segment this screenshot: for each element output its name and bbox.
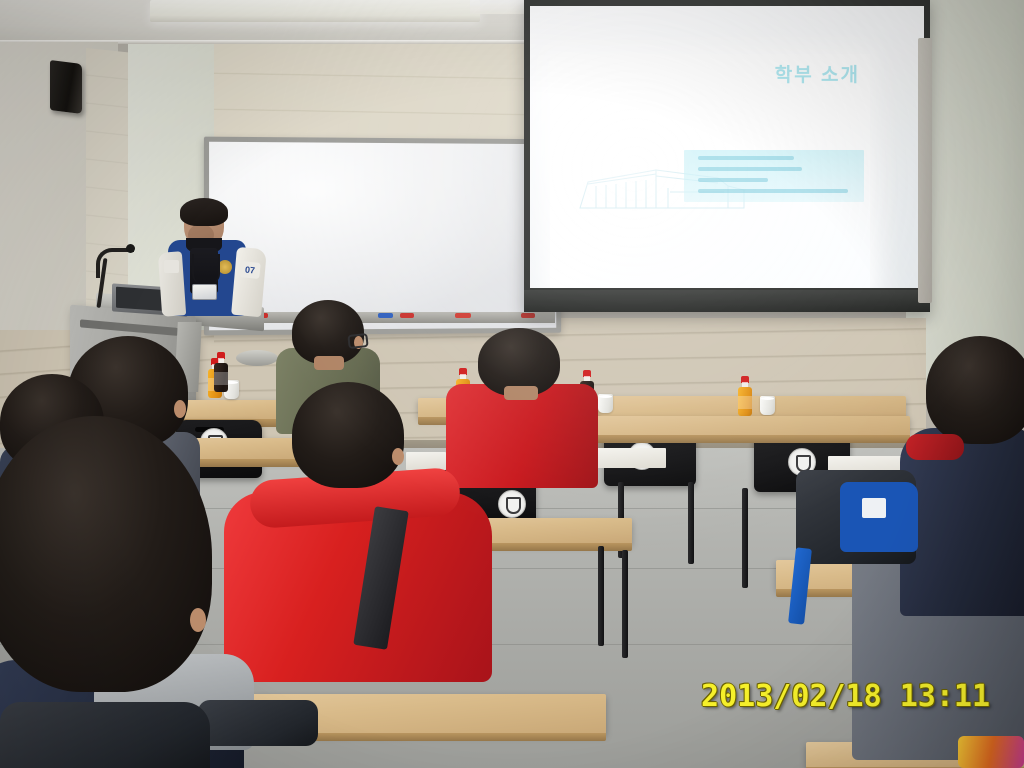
slide-title: 학부 소개 — [775, 60, 860, 87]
student-far-right-navy — [900, 336, 1024, 616]
screen-side-rail — [918, 38, 932, 303]
projection-screen-surface: 학부 소개 — [530, 6, 924, 288]
slide-bullet-3 — [698, 178, 768, 182]
presenter-sleeve-right — [231, 247, 267, 317]
paper-cup-3 — [760, 396, 775, 415]
jacket-draped-front-left — [0, 702, 210, 768]
ceiling-light-fixture — [150, 0, 480, 22]
wall-speaker — [50, 60, 82, 114]
presenter-chest-emblem — [218, 260, 232, 274]
colorful-item-bottom-right — [958, 736, 1024, 768]
presenter: 07 — [160, 198, 270, 316]
bag-dark-front-desk — [198, 700, 318, 746]
marker-red-2 — [400, 313, 414, 318]
student-red-center-ear — [392, 448, 404, 465]
classroom-photo: 학부 소개 — [0, 0, 1024, 768]
marker-red-3 — [455, 313, 471, 318]
student-far-right-hair — [926, 336, 1024, 444]
slide-bullet-1 — [698, 156, 794, 160]
projection-screen: 학부 소개 — [524, 0, 930, 312]
screen-bottom-bar — [524, 290, 930, 312]
marker-red-4 — [521, 313, 535, 318]
presenter-shoulder-patch — [164, 260, 179, 273]
presenter-hair — [180, 198, 228, 226]
paper-cup-2 — [598, 394, 613, 413]
podium-stool — [236, 350, 278, 366]
marker-blue — [378, 313, 393, 318]
student-front-left-ear — [190, 608, 206, 632]
podium-slot — [80, 319, 178, 336]
presenter-id-badge — [192, 284, 217, 300]
student-far-right-collar — [906, 434, 964, 460]
bottle-orange-juice-3 — [738, 376, 752, 416]
presenter-lanyard — [192, 254, 220, 284]
desk-paper-1 — [594, 448, 666, 468]
microphone-head — [126, 244, 135, 253]
student-red-center-hair — [292, 382, 404, 488]
slide-text-block — [684, 150, 864, 202]
slide-bullet-2 — [698, 167, 802, 171]
camera-timestamp: 2013/02/18 13:11 — [701, 679, 990, 714]
presentation-slide: 학부 소개 — [550, 54, 870, 288]
presenter-sleeve-number: 07 — [239, 261, 261, 279]
slide-bullet-4 — [698, 189, 848, 193]
student-olive-hair — [292, 300, 364, 364]
student-glasses — [347, 333, 368, 349]
student-front-left-hair — [0, 416, 212, 692]
bag-blue-label — [862, 498, 886, 518]
chair-emblem-4 — [498, 490, 526, 518]
student-red-center — [216, 382, 492, 682]
